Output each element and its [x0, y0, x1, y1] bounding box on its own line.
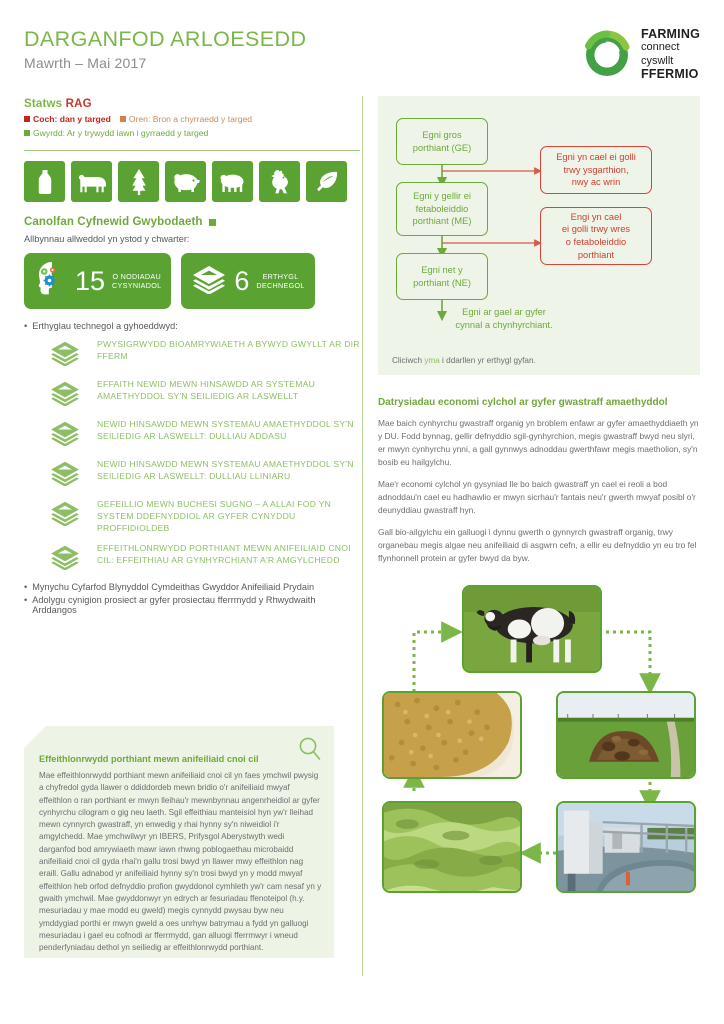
rag-legend-orange: Oren: Bron a chyrraedd y targed	[120, 114, 252, 124]
kpi-badge-row: 15 O NODIADAU CYSYNIADOL 6	[24, 253, 360, 309]
flow-box-energy-loss-excreta: Egni yn cael ei golli trwy ysgarthion, n…	[540, 146, 652, 194]
kpi-badge-technical-articles: 6 ERTHYGL DECHNEGOL	[181, 253, 314, 309]
flow-box-metabolisable-energy: Egni y gellir ei fetaboleiddio porthiant…	[396, 182, 488, 236]
circular-economy-paragraph: Mae'r economi cylchol yn gysyniad lle bo…	[378, 478, 700, 517]
rag-legend-row-2: Gwyrdd: Ar y trywydd iawn i gyrraedd y t…	[24, 128, 360, 138]
poster-page: DARGANFOD ARLOESEDD Mawrth – Mai 2017 FA…	[0, 0, 724, 1024]
energy-flow-panel: Egni gros porthiant (GE) Egni y gellir e…	[378, 96, 700, 375]
tail-bullet-list: • Mynychu Cyfarfod Blynyddol Cymdeithas …	[24, 582, 360, 615]
cow-photo	[462, 585, 602, 673]
pig-icon	[165, 161, 206, 202]
left-column: Statws RAG Coch: dan y targed Oren: Bron…	[24, 98, 360, 615]
rag-title-accent: RAG	[66, 98, 92, 110]
column-divider	[362, 96, 363, 976]
rag-status-square-icon	[209, 219, 216, 226]
feature-highlight-body: Mae effeithlonrwydd porthiant mewn anife…	[39, 770, 322, 954]
cow-photo-image	[464, 587, 600, 671]
article-title: GEFEILLIO MEWN BUCHESI SUGNO – A ALLAI F…	[97, 498, 360, 535]
kpi-label-line1: O NODIADAU	[112, 272, 161, 281]
sheep-icon	[212, 161, 253, 202]
list-item[interactable]: PWYSIGRWYDD BIOAMRYWIAETH A BYWYD GWYLLT…	[24, 338, 360, 371]
layers-icon	[48, 458, 86, 491]
article-list: PWYSIGRWYDD BIOAMRYWIAETH A BYWYD GWYLLT…	[24, 338, 360, 575]
list-item[interactable]: EFFAITH NEWID MEWN HINSAWDD AR SYSTEMAU …	[24, 378, 360, 411]
list-item: • Adolygu cynigion prosiect ar gyfer pro…	[24, 595, 360, 615]
algae-photo-image	[384, 803, 520, 891]
flow-box-metabolisable-energy-label: Egni y gellir ei fetaboleiddio porthiant…	[413, 190, 472, 228]
layers-icon	[191, 264, 227, 299]
knowledge-heading-text: Canolfan Cyfnewid Gwybodaeth	[24, 216, 203, 228]
list-item[interactable]: EFFEITHLONRWYDD PORTHIANT MEWN ANIFEILIA…	[24, 542, 360, 575]
flow-box-energy-loss-excreta-label: Egni yn cael ei golli trwy ysgarthion, n…	[556, 151, 636, 189]
bullet-dot-icon: •	[24, 595, 27, 615]
flow-caption: Egni ar gael ar gyfer cynnal a chynhyrch…	[404, 306, 604, 331]
knowledge-exchange-heading: Canolfan Cyfnewid Gwybodaeth	[24, 216, 360, 228]
farming-connect-logo: FARMING connect cyswllt FFERMIO	[582, 28, 700, 82]
flow-box-energy-loss-heat: Engi yn cael ei golli trwy wres o fetabo…	[540, 207, 652, 265]
plant-leaf-icon	[306, 161, 347, 202]
rag-label-red: Coch: dan y targed	[33, 114, 111, 124]
algae-photo	[382, 801, 522, 893]
page-header: DARGANFOD ARLOESEDD Mawrth – Mai 2017 FA…	[24, 28, 700, 92]
flow-box-net-energy-label: Egni net y porthiant (NE)	[413, 264, 471, 289]
flow-box-net-energy: Egni net y porthiant (NE)	[396, 253, 488, 300]
feature-highlight-box: Effeithlonrwydd porthiant mewn anifeilia…	[24, 726, 334, 958]
click-prefix: Cliciwch	[392, 356, 424, 365]
list-item[interactable]: NEWID HINSAWDD MEWN SYSTEMAU AMAETHYDDOL…	[24, 418, 360, 451]
logo-line-ffermio: FFERMIO	[641, 68, 700, 82]
rag-legend-row-1: Coch: dan y targed Oren: Bron a chyrraed…	[24, 114, 360, 124]
list-item[interactable]: GEFEILLIO MEWN BUCHESI SUGNO – A ALLAI F…	[24, 498, 360, 535]
circular-economy-paragraph: Gall bio-ailgylchu ein galluogi i dynnu …	[378, 526, 700, 565]
rag-swatch-orange-icon	[120, 116, 126, 122]
feed-photo	[382, 691, 522, 779]
layers-icon	[48, 418, 86, 451]
kpi-label-line2: DECHNEGOL	[256, 281, 304, 290]
article-title: PWYSIGRWYDD BIOAMRYWIAETH A BYWYD GWYLLT…	[97, 338, 360, 362]
kpi-badge-technical-articles-value: 6	[234, 268, 249, 295]
rag-label-green: Gwyrdd: Ar y trywydd iawn i gyrraedd y t…	[33, 128, 208, 138]
circular-economy-paragraph: Mae baich cynhyrchu gwastraff organig yn…	[378, 417, 700, 469]
article-title: EFFEITHLONRWYDD PORTHIANT MEWN ANIFEILIA…	[97, 542, 360, 566]
tail-bullet-text: Mynychu Cyfarfod Blynyddol Cymdeithas Gw…	[32, 582, 314, 592]
read-full-article-link[interactable]: yma	[424, 356, 439, 365]
click-suffix: i ddarllen yr erthygl gyfan.	[440, 356, 536, 365]
manure-photo	[556, 691, 696, 779]
rag-title-prefix: Statws	[24, 98, 66, 110]
rag-label-orange: Oren: Bron a chyrraedd y targed	[129, 114, 252, 124]
feature-highlight-title: Effeithlonrwydd porthiant mewn anifeilia…	[39, 754, 320, 764]
tree-icon	[118, 161, 159, 202]
layers-icon	[48, 498, 86, 531]
logo-line-farming: FARMING	[641, 28, 700, 42]
flow-box-gross-energy-label: Egni gros porthiant (GE)	[413, 129, 471, 154]
tail-bullet-text: Adolygu cynigion prosiect ar gyfer prosi…	[32, 595, 360, 615]
layers-icon	[48, 542, 86, 575]
digester-photo	[556, 801, 696, 893]
logo-wordmark: FARMING connect cyswllt FFERMIO	[641, 28, 700, 82]
circular-economy-title: Datrysiadau economi cylchol ar gyfer gwa…	[378, 397, 700, 408]
layers-icon	[48, 338, 86, 371]
bullet-dot-icon: •	[24, 321, 27, 331]
kpi-badge-technical-articles-label: ERTHYGL DECHNEGOL	[256, 272, 304, 290]
rag-status-title: Statws RAG	[24, 98, 360, 110]
flow-box-gross-energy: Egni gros porthiant (GE)	[396, 118, 488, 165]
article-title: NEWID HINSAWDD MEWN SYSTEMAU AMAETHYDDOL…	[97, 418, 360, 442]
feed-photo-image	[384, 693, 520, 777]
logo-line-connect: connect	[641, 42, 700, 54]
right-column: Egni gros porthiant (GE) Egni y gellir e…	[378, 96, 700, 899]
chicken-icon	[259, 161, 300, 202]
kpi-label-line2: CYSYNIADOL	[112, 281, 161, 290]
kpi-badge-concept-notes-label: O NODIADAU CYSYNIADOL	[112, 272, 161, 290]
manure-photo-image	[558, 693, 694, 777]
energy-flow-diagram: Egni gros porthiant (GE) Egni y gellir e…	[390, 110, 688, 350]
articles-intro-bullet: • Erthyglau technegol a gyhoeddwyd:	[24, 321, 360, 331]
digester-photo-image	[558, 803, 694, 891]
circular-economy-cycle-diagram	[378, 579, 700, 899]
bullet-dot-icon: •	[24, 582, 27, 592]
rag-swatch-red-icon	[24, 116, 30, 122]
kpi-badge-concept-notes-value: 15	[75, 268, 105, 295]
article-title: EFFAITH NEWID MEWN HINSAWDD AR SYSTEMAU …	[97, 378, 360, 402]
logo-swirl-icon	[582, 30, 632, 80]
rag-legend-green: Gwyrdd: Ar y trywydd iawn i gyrraedd y t…	[24, 128, 208, 138]
header-divider	[24, 150, 360, 151]
kpi-label-line1: ERTHYGL	[256, 272, 304, 281]
kpi-number: 15	[75, 268, 105, 295]
knowledge-subheading: Allbynnau allweddol yn ystod y chwarter:	[24, 234, 360, 244]
head-gears-icon	[34, 261, 68, 302]
cattle-icon	[71, 161, 112, 202]
list-item[interactable]: NEWID HINSAWDD MEWN SYSTEMAU AMAETHYDDOL…	[24, 458, 360, 491]
read-full-article-line: Cliciwch yma i ddarllen yr erthygl gyfan…	[390, 356, 688, 365]
layers-icon	[48, 378, 86, 411]
milk-bottle-icon	[24, 161, 65, 202]
kpi-badge-concept-notes: 15 O NODIADAU CYSYNIADOL	[24, 253, 171, 309]
rag-swatch-green-icon	[24, 130, 30, 136]
article-title: NEWID HINSAWDD MEWN SYSTEMAU AMAETHYDDOL…	[97, 458, 360, 482]
articles-intro-text: Erthyglau technegol a gyhoeddwyd:	[32, 321, 178, 331]
sector-icon-row	[24, 161, 360, 202]
kpi-number: 6	[234, 268, 249, 295]
list-item: • Mynychu Cyfarfod Blynyddol Cymdeithas …	[24, 582, 360, 592]
flow-box-energy-loss-heat-label: Engi yn cael ei golli trwy wres o fetabo…	[562, 211, 630, 261]
rag-legend-red: Coch: dan y targed	[24, 114, 111, 124]
